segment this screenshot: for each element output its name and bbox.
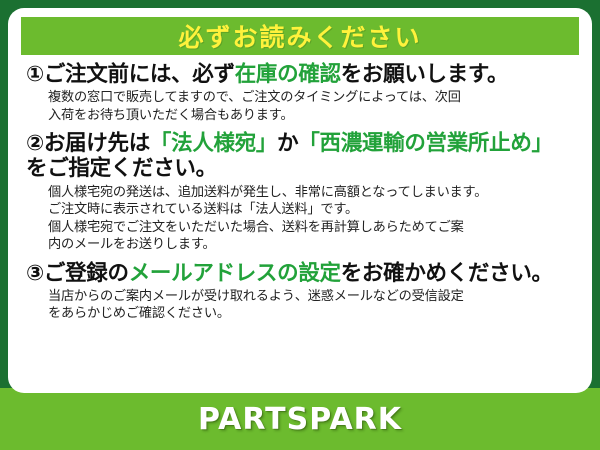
item-3-head-before: ご登録の	[44, 261, 129, 286]
notice-item-1-body: 複数の窓口で販売してますので、ご注文のタイミングによっては、次回 入荷をお待ち頂…	[26, 89, 577, 124]
item-2-head-before: お届け先は	[44, 131, 150, 156]
notice-item-3-body: 当店からのご案内メールが受け取れるよう、迷惑メールなどの受信設定 をあらかじめご…	[26, 288, 577, 323]
item-2-head-highlight: 「法人様宛」	[150, 131, 277, 156]
item-number-2: ②	[26, 131, 44, 156]
header-banner: 必ずお読みください	[21, 17, 579, 55]
notice-card: 必ずお読みください ①ご注文前には、必ず在庫の確認をお願いします。 複数の窓口で…	[8, 8, 592, 393]
item-3-head-after: をお確かめください。	[341, 261, 553, 286]
item-2-head-after: をご指定ください。	[26, 156, 217, 181]
brand-name: PARTSPARK	[198, 402, 402, 437]
item-1-head-before: ご注文前には、必ず	[44, 62, 235, 87]
item-1-head-after: をお願いします。	[341, 62, 508, 87]
notice-item-3-heading: ③ご登録のメールアドレスの設定をお確かめください。	[26, 261, 577, 286]
item-3-head-highlight: メールアドレスの設定	[129, 261, 341, 286]
notice-frame: 必ずお読みください ①ご注文前には、必ず在庫の確認をお願いします。 複数の窓口で…	[0, 0, 600, 450]
brand-footer: PARTSPARK	[0, 388, 600, 450]
notice-item-2-heading: ②お届け先は「法人様宛」か「西濃運輸の営業所止め」 をご指定ください。	[26, 131, 577, 181]
notice-item-2-body: 個人様宅宛の発送は、追加送料が発生し、非常に高額となってしまいます。 ご注文時に…	[26, 184, 577, 254]
notice-item-1-heading: ①ご注文前には、必ず在庫の確認をお願いします。	[26, 62, 577, 87]
notice-item-3: ③ご登録のメールアドレスの設定をお確かめください。 当店からのご案内メールが受け…	[26, 261, 577, 323]
notice-items-list: ①ご注文前には、必ず在庫の確認をお願いします。 複数の窓口で販売してますので、ご…	[21, 55, 579, 323]
item-number-1: ①	[26, 62, 44, 87]
item-2-head-highlight-2: 「西濃運輸の営業所止め」	[298, 131, 552, 156]
item-1-head-highlight: 在庫の確認	[235, 62, 341, 87]
item-number-3: ③	[26, 261, 44, 286]
notice-item-2: ②お届け先は「法人様宛」か「西濃運輸の営業所止め」 をご指定ください。 個人様宅…	[26, 131, 577, 253]
item-2-head-middle: か	[277, 131, 298, 156]
notice-item-1: ①ご注文前には、必ず在庫の確認をお願いします。 複数の窓口で販売してますので、ご…	[26, 62, 577, 124]
header-title: 必ずお読みください	[178, 18, 421, 54]
